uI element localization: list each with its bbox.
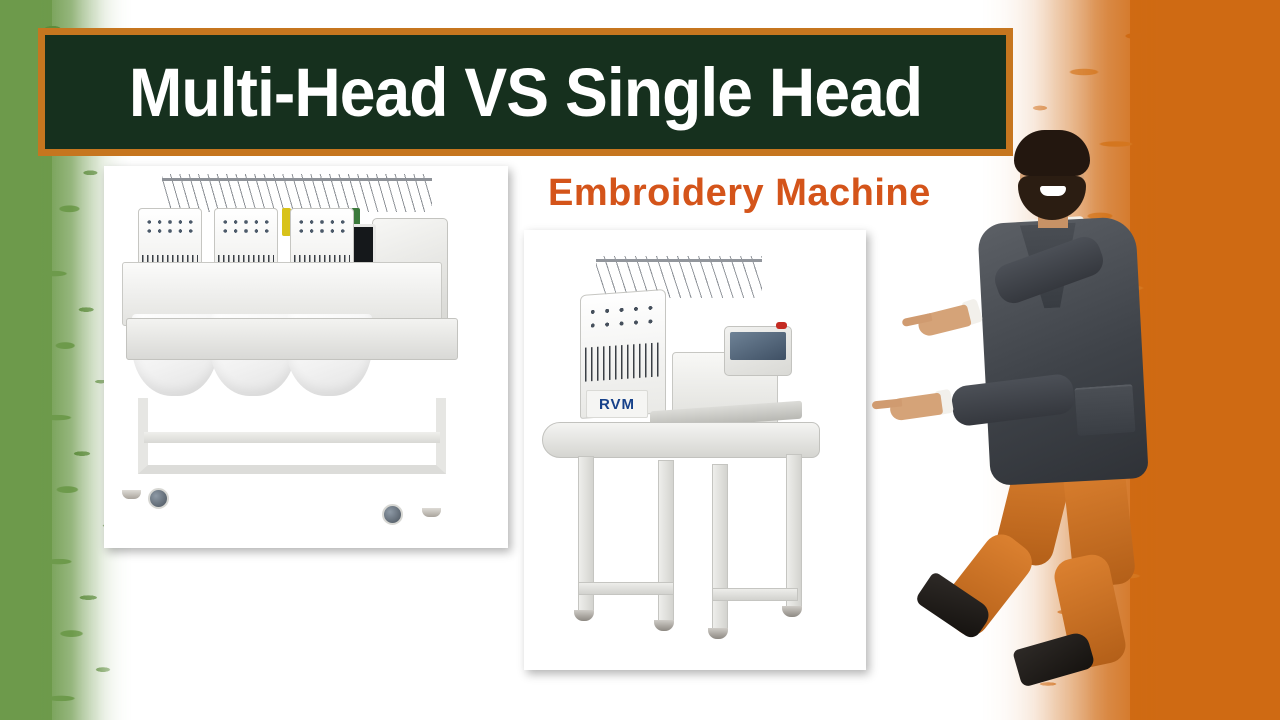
stand-leg: [658, 460, 674, 622]
leveling-foot: [122, 490, 141, 499]
needle-dots: [296, 216, 348, 236]
needle-bars: [585, 342, 661, 381]
leveling-foot: [422, 508, 441, 517]
touchscreen-display: [730, 332, 786, 360]
poster-canvas: Multi-Head VS Single Head Embroidery Mac…: [0, 0, 1280, 720]
single-head-machine-illustration: RVM: [524, 230, 866, 670]
stand-cross-rail: [578, 582, 674, 595]
single-head-machine-image: RVM: [524, 230, 866, 670]
hair: [1014, 130, 1090, 176]
pointing-man-photo: [898, 128, 1228, 720]
machine-base-rail: [126, 318, 458, 360]
stand-leg: [786, 454, 802, 608]
smile: [1040, 186, 1066, 196]
machine-lower-shelf: [144, 432, 440, 443]
machine-table-top: [542, 422, 820, 458]
blazer-pocket: [1074, 384, 1135, 436]
caster-wheel: [574, 610, 594, 621]
emergency-stop-button: [776, 322, 787, 329]
head-brand-label: RVM: [599, 396, 635, 413]
beard: [1018, 176, 1086, 220]
needle-dots: [220, 216, 272, 236]
multi-head-machine-image: BAI BAI BAI: [104, 166, 508, 548]
title-banner: Multi-Head VS Single Head: [38, 28, 1013, 156]
head-brand-plate: RVM: [586, 390, 648, 418]
needle-dots: [587, 300, 659, 339]
needle-dots: [144, 216, 196, 236]
caster-wheel: [782, 606, 802, 617]
caster-wheel: [654, 620, 674, 631]
stand-leg: [712, 464, 728, 630]
right-shoe: [1012, 630, 1096, 687]
multi-head-machine-illustration: BAI BAI BAI: [104, 166, 508, 548]
subtitle-text: Embroidery Machine: [548, 172, 931, 215]
caster-wheel: [148, 488, 169, 509]
caster-wheel: [382, 504, 403, 525]
stand-cross-rail: [712, 588, 798, 601]
touchscreen-control-panel: [724, 326, 792, 376]
lower-pointing-hand: [889, 392, 944, 421]
page-title: Multi-Head VS Single Head: [129, 58, 922, 127]
caster-wheel: [708, 628, 728, 639]
